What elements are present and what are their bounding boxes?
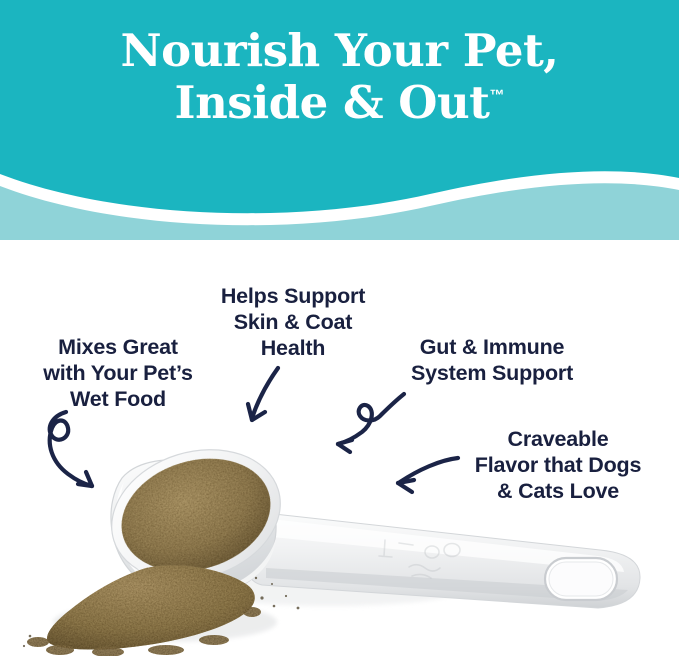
callout-skin-coat-health: Helps Support Skin & Coat Health <box>198 283 388 362</box>
title-line-2-text: Inside & Out <box>175 76 490 129</box>
title-line-2: Inside & Out™ <box>0 80 679 126</box>
callout-craveable-flavor: Craveable Flavor that Dogs & Cats Love <box>452 426 664 505</box>
curved-arrow-left-icon <box>388 452 464 498</box>
handle-hole <box>545 558 617 600</box>
trademark-symbol: ™ <box>489 87 504 104</box>
header-banner: Nourish Your Pet, Inside & Out™ <box>0 0 679 240</box>
promo-image: Nourish Your Pet, Inside & Out™ <box>0 0 679 656</box>
callout-gut-immune-support: Gut & Immune System Support <box>392 334 592 386</box>
page-title: Nourish Your Pet, Inside & Out™ <box>0 28 679 126</box>
curved-arrow-down-left-icon <box>232 362 294 434</box>
title-line-1: Nourish Your Pet, <box>0 28 679 74</box>
curly-loop-arrow-down-right-icon <box>38 404 118 499</box>
callout-mixes-great: Mixes Great with Your Pet’s Wet Food <box>18 334 218 413</box>
